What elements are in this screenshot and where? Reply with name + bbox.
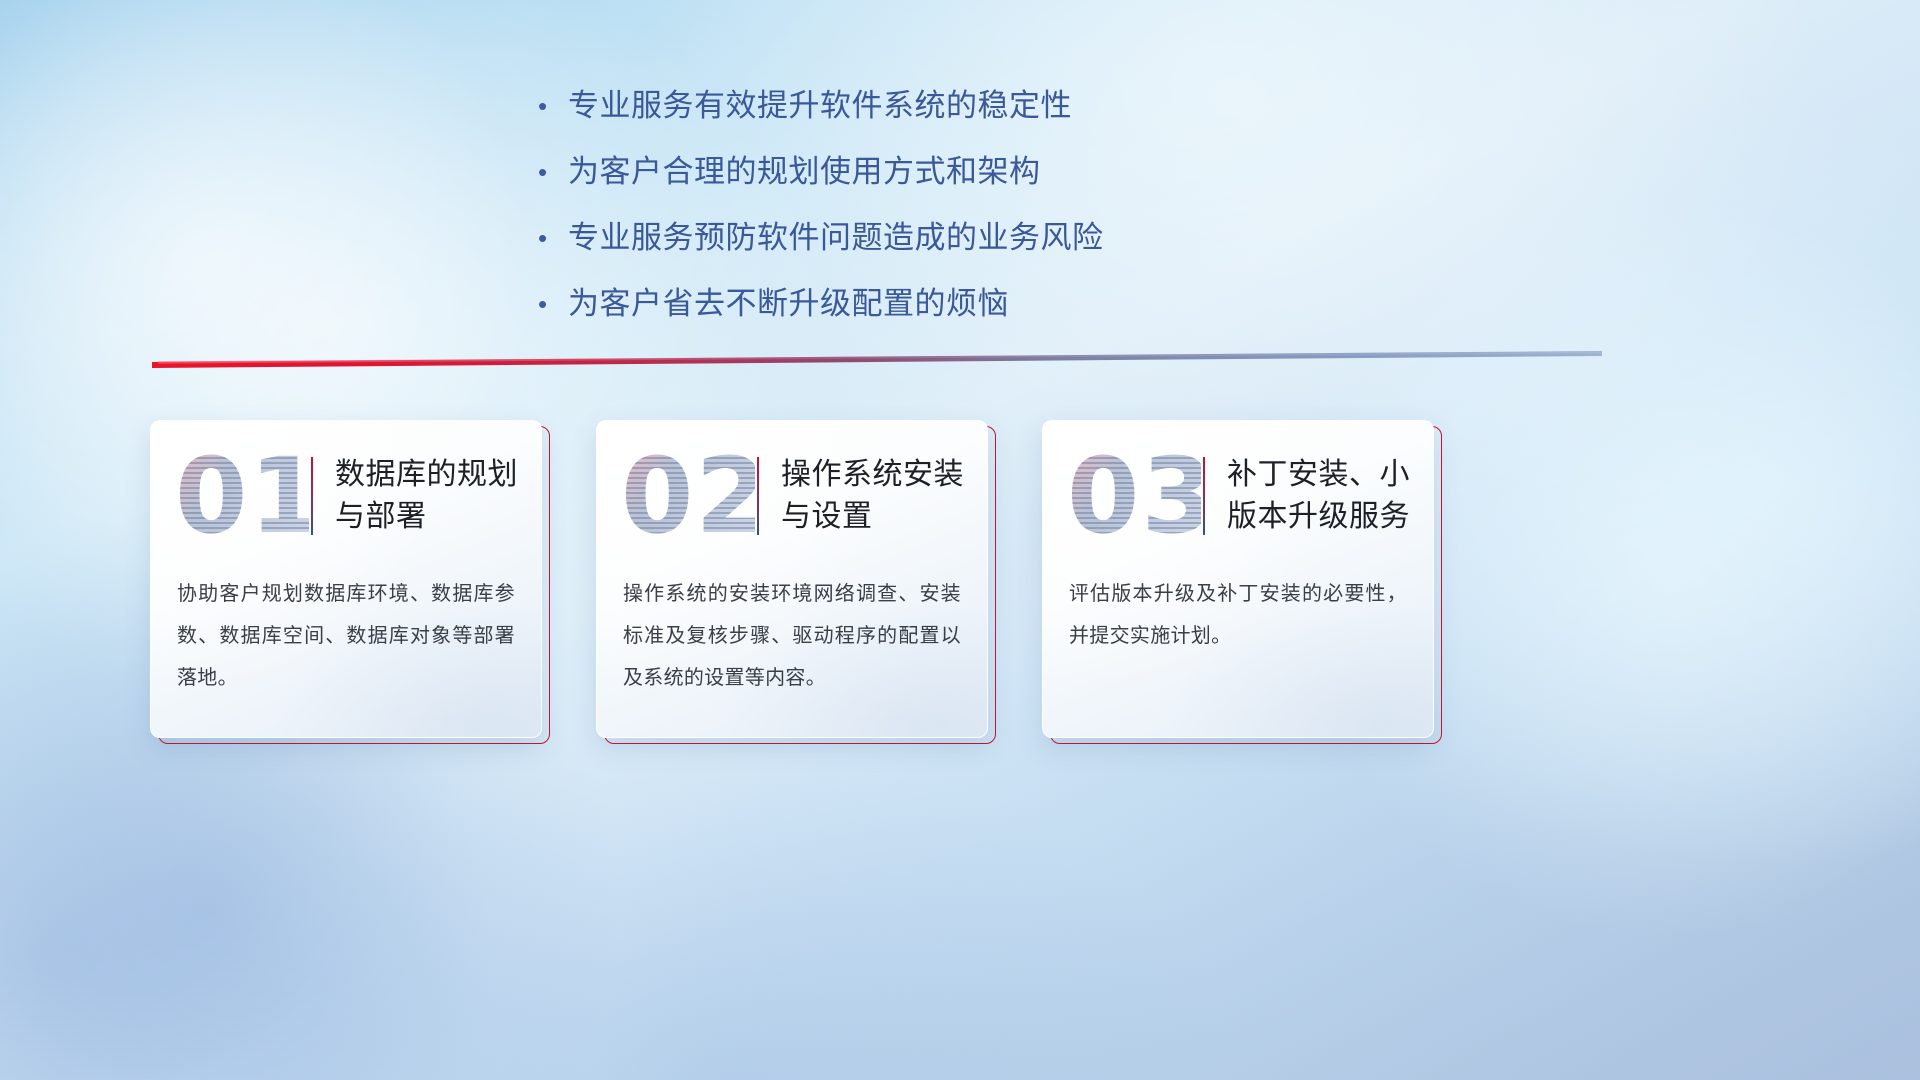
card-header: 02 操作系统安装与设置 [597,421,987,571]
feature-card-02[interactable]: 02 操作系统安装与设置 操作系统的安装环境网络调查、安装标准及复核步骤、驱动程… [596,420,994,742]
slide-canvas: • 专业服务有效提升软件系统的稳定性 • 为客户合理的规划使用方式和架构 • 专… [0,0,1920,1080]
card-surface: 01 数据库的规划与部署 协助客户规划数据库环境、数据库参数、数据库空间、数据库… [150,420,542,738]
card-header: 03 补丁安装、小版本升级服务 [1043,421,1433,571]
bullet-item-label: 专业服务预防软件问题造成的业务风险 [568,218,1104,258]
card-number-watermark: 01 [175,442,309,550]
bullet-point-icon: • [538,218,568,258]
card-body-text: 评估版本升级及补丁安装的必要性，并提交实施计划。 [1043,571,1433,657]
card-header: 01 数据库的规划与部署 [151,421,541,571]
card-surface: 03 补丁安装、小版本升级服务 评估版本升级及补丁安装的必要性，并提交实施计划。 [1042,420,1434,738]
bullet-item-label: 专业服务有效提升软件系统的稳定性 [568,86,1072,126]
feature-card-03[interactable]: 03 补丁安装、小版本升级服务 评估版本升级及补丁安装的必要性，并提交实施计划。 [1042,420,1440,742]
bullet-item-label: 为客户省去不断升级配置的烦恼 [568,284,1009,324]
bullet-point-icon: • [538,284,568,324]
card-body-text: 协助客户规划数据库环境、数据库参数、数据库空间、数据库对象等部署落地。 [151,571,541,699]
bullet-point-icon: • [538,86,568,126]
list-item: • 为客户合理的规划使用方式和架构 [538,152,1298,192]
card-surface: 02 操作系统安装与设置 操作系统的安装环境网络调查、安装标准及复核步骤、驱动程… [596,420,988,738]
card-row: 01 数据库的规划与部署 协助客户规划数据库环境、数据库参数、数据库空间、数据库… [150,420,1770,750]
feature-card-01[interactable]: 01 数据库的规划与部署 协助客户规划数据库环境、数据库参数、数据库空间、数据库… [150,420,548,742]
bullet-item-label: 为客户合理的规划使用方式和架构 [568,152,1041,192]
list-item: • 专业服务预防软件问题造成的业务风险 [538,218,1298,258]
card-number-watermark: 02 [621,442,755,550]
card-title: 数据库的规划与部署 [335,454,531,538]
card-number-watermark: 03 [1067,442,1201,550]
list-item: • 专业服务有效提升软件系统的稳定性 [538,86,1298,126]
card-title: 操作系统安装与设置 [781,454,977,538]
list-item: • 为客户省去不断升级配置的烦恼 [538,284,1298,324]
card-title: 补丁安装、小版本升级服务 [1227,454,1423,538]
bullet-list: • 专业服务有效提升软件系统的稳定性 • 为客户合理的规划使用方式和架构 • 专… [538,86,1298,350]
bullet-point-icon: • [538,152,568,192]
card-body-text: 操作系统的安装环境网络调查、安装标准及复核步骤、驱动程序的配置以及系统的设置等内… [597,571,987,699]
